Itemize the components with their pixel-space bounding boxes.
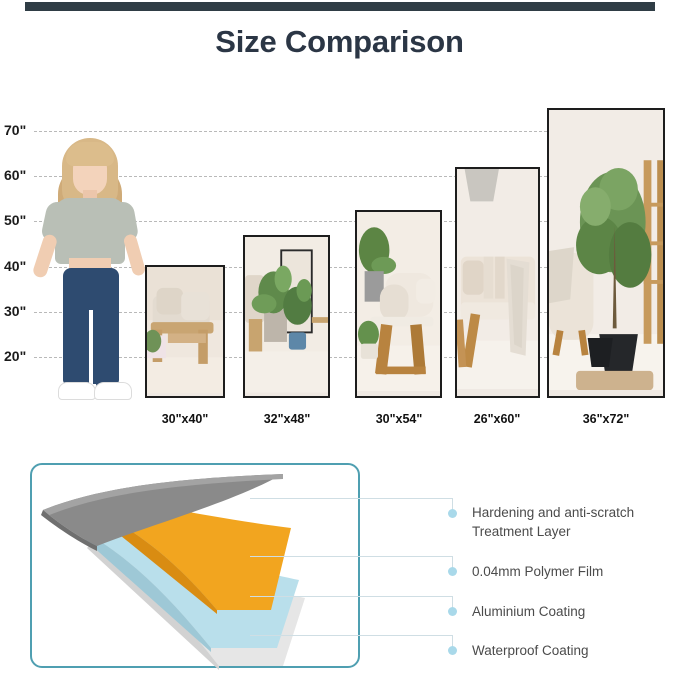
person-fringe [66, 142, 114, 166]
connector-line-1 [250, 498, 452, 499]
mirror-36x72-scene [549, 110, 663, 390]
person-leg-right [96, 334, 118, 388]
person-shoe-left [58, 382, 96, 400]
person-crop-top [55, 198, 125, 264]
mirror-26x60[interactable] [455, 167, 540, 398]
mirror-26x60-scene [457, 169, 538, 389]
layer-dot-1 [448, 509, 457, 518]
mirror-30x54[interactable] [355, 210, 442, 398]
page-title: Size Comparison [0, 24, 679, 60]
connector-line-4 [250, 635, 452, 636]
mirror-30x40[interactable] [145, 265, 225, 398]
infographic-page: Size Comparison 70" 60" 50" 40" 30" 20" [0, 0, 679, 681]
layer-label-4: Waterproof Coating [472, 641, 662, 660]
mirror-32x48[interactable] [243, 235, 330, 398]
mirror-30x40-label: 30"x40" [130, 412, 240, 426]
layer-dot-3 [448, 607, 457, 616]
axis-tick-70: 70" [4, 122, 54, 138]
top-accent-bar [25, 2, 655, 11]
layer-dot-4 [448, 646, 457, 655]
layer-label-2: 0.04mm Polymer Film [472, 562, 662, 581]
person-leg-left [64, 334, 86, 388]
layer-label-1: Hardening and anti-scratch Treatment Lay… [472, 503, 662, 541]
reference-person-figure [36, 138, 148, 400]
layer-dot-2 [448, 567, 457, 576]
person-arm-right [122, 233, 146, 277]
mirror-30x40-scene [147, 267, 223, 393]
mirror-30x54-label: 30"x54" [344, 412, 454, 426]
mirror-30x54-scene [357, 212, 440, 391]
layer-label-3: Aluminium Coating [472, 602, 662, 621]
gridline-70 [34, 131, 547, 132]
mirror-32x48-scene [245, 237, 328, 393]
connector-line-3 [250, 596, 452, 597]
mirror-26x60-label: 26"x60" [442, 412, 552, 426]
person-shoe-right [94, 382, 132, 400]
connector-line-2 [250, 556, 452, 557]
size-comparison-chart: 70" 60" 50" 40" 30" 20" [0, 100, 679, 440]
mirror-36x72[interactable] [547, 108, 665, 398]
mirror-36x72-label: 36"x72" [551, 412, 661, 426]
layer-sheets-illustration [33, 470, 353, 670]
mirror-32x48-label: 32"x48" [232, 412, 342, 426]
